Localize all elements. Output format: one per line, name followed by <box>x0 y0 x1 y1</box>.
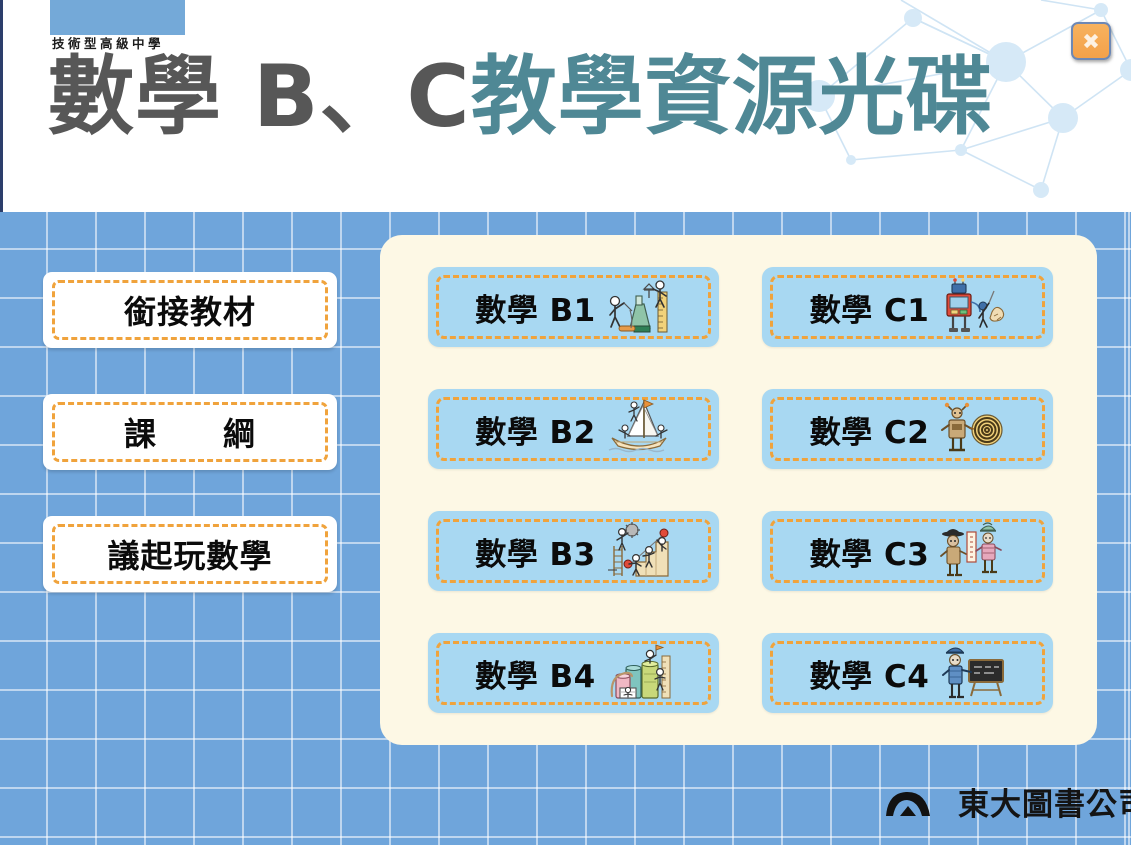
sailboat-illustration <box>606 398 672 460</box>
sidebar-item-label: 課 綱 <box>43 394 337 470</box>
course-panel: 數學 B1 <box>380 235 1097 745</box>
containers-cans-illustration <box>606 642 672 704</box>
robot-machine-illustration <box>939 276 1005 338</box>
course-button-math-c3[interactable]: 數學 C3 <box>762 511 1053 591</box>
close-icon <box>1073 24 1109 58</box>
close-button[interactable] <box>1071 22 1111 60</box>
school-mark: 技術型高級中學 <box>50 0 185 51</box>
course-label: 數學 C3 <box>810 529 930 574</box>
course-button-math-c2[interactable]: 數學 C2 <box>762 389 1053 469</box>
course-label: 數學 B4 <box>475 651 596 696</box>
figure-with-blackboard-illustration <box>939 642 1005 704</box>
page-title-part-dark: 數學 B、C <box>48 47 471 147</box>
course-button-math-b1[interactable]: 數學 B1 <box>428 267 719 347</box>
course-button-math-c4[interactable]: 數學 C4 <box>762 633 1053 713</box>
sidebar-item-play-math-topics[interactable]: 議起玩數學 <box>43 516 337 592</box>
sidebar-item-label: 議起玩數學 <box>43 516 337 592</box>
course-label: 數學 B2 <box>475 407 596 452</box>
surveying-tools-illustration <box>606 276 672 338</box>
page-title: 數學 B、C教學資源光碟 <box>48 54 993 140</box>
course-label: 數學 C1 <box>810 285 930 330</box>
two-figures-with-sign-illustration <box>939 520 1005 582</box>
sidebar-item-curriculum-guidelines[interactable]: 課 綱 <box>43 394 337 470</box>
figure-with-spiral-target-illustration <box>939 398 1005 460</box>
publisher-logo: 東大圖書公司 <box>884 787 1131 823</box>
application-window: 技術型高級中學 數學 B、C教學資源光碟 銜接教材 課 綱 議起玩數學 <box>0 0 1131 845</box>
course-button-math-c1[interactable]: 數學 C1 <box>762 267 1053 347</box>
course-button-math-b2[interactable]: 數學 B2 <box>428 389 719 469</box>
course-grid: 數學 B1 <box>428 267 1053 713</box>
header-left-rule <box>0 0 3 212</box>
course-label: 數學 C4 <box>810 651 930 696</box>
course-label: 數學 C2 <box>810 407 930 452</box>
course-label: 數學 B1 <box>475 285 596 330</box>
course-button-math-b3[interactable]: 數學 B3 <box>428 511 719 591</box>
construction-stairs-illustration <box>606 520 672 582</box>
header-banner: 技術型高級中學 數學 B、C教學資源光碟 <box>0 0 1131 212</box>
publisher-name: 東大圖書公司 <box>958 790 1131 821</box>
sidebar-menu: 銜接教材 課 綱 議起玩數學 <box>43 272 337 638</box>
page-title-part-teal: 教學資源光碟 <box>471 47 993 147</box>
school-mark-bar <box>50 0 185 35</box>
course-button-math-b4[interactable]: 數學 B4 <box>428 633 719 713</box>
course-label: 數學 B3 <box>475 529 596 574</box>
arch-mountain-logo-icon <box>884 787 946 823</box>
sidebar-item-label: 銜接教材 <box>43 272 337 348</box>
sidebar-item-bridging-materials[interactable]: 銜接教材 <box>43 272 337 348</box>
